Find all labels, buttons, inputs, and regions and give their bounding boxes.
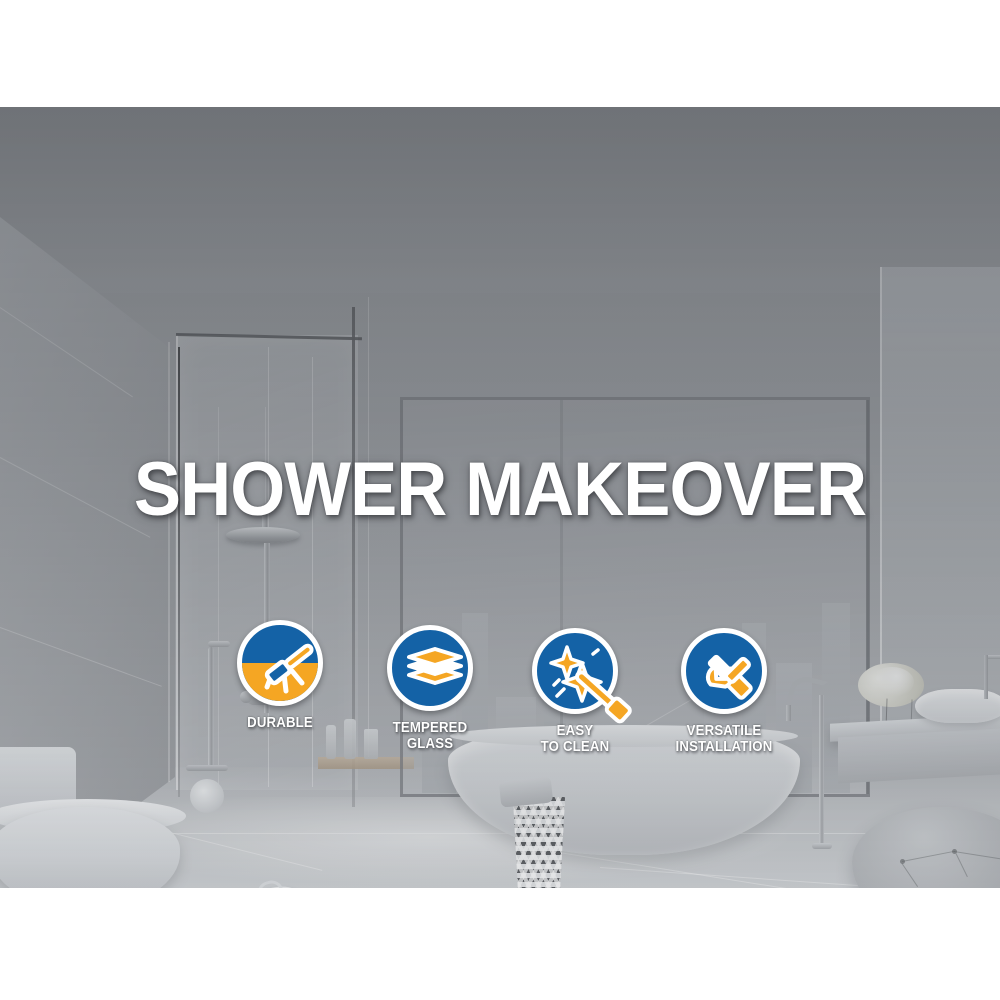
screwdriver-wrench-glyph xyxy=(686,633,772,719)
feature-label: TEMPERED GLASS xyxy=(370,720,490,752)
letterbox-top xyxy=(0,0,1000,107)
squeegee-icon xyxy=(237,620,323,706)
page-title: SHOWER MAKEOVER xyxy=(35,452,965,528)
letterbox-bottom xyxy=(0,888,1000,1000)
glass-layers-glyph xyxy=(392,630,478,716)
sparkle-squeegee-glyph xyxy=(537,633,623,719)
feature-tempered-glass[interactable]: TEMPERED GLASS xyxy=(362,625,498,752)
feature-label: VERSATILE INSTALLATION xyxy=(664,723,784,755)
feature-label: EASY TO CLEAN xyxy=(515,723,635,755)
product-banner: SHOWER MAKEOVER DURABLE xyxy=(0,0,1000,1000)
feature-easy-to-clean[interactable]: EASY TO CLEAN xyxy=(507,628,643,755)
screwdriver-wrench-icon xyxy=(681,628,767,714)
sparkle-squeegee-icon xyxy=(532,628,618,714)
feature-badge-row: DURABLE TEMPERED GLASS xyxy=(0,620,1000,790)
glass-layers-icon xyxy=(387,625,473,711)
feature-durable[interactable]: DURABLE xyxy=(212,620,348,731)
feature-label: DURABLE xyxy=(220,715,340,731)
feature-versatile-installation[interactable]: VERSATILE INSTALLATION xyxy=(656,628,792,755)
squeegee-glyph xyxy=(242,625,328,711)
